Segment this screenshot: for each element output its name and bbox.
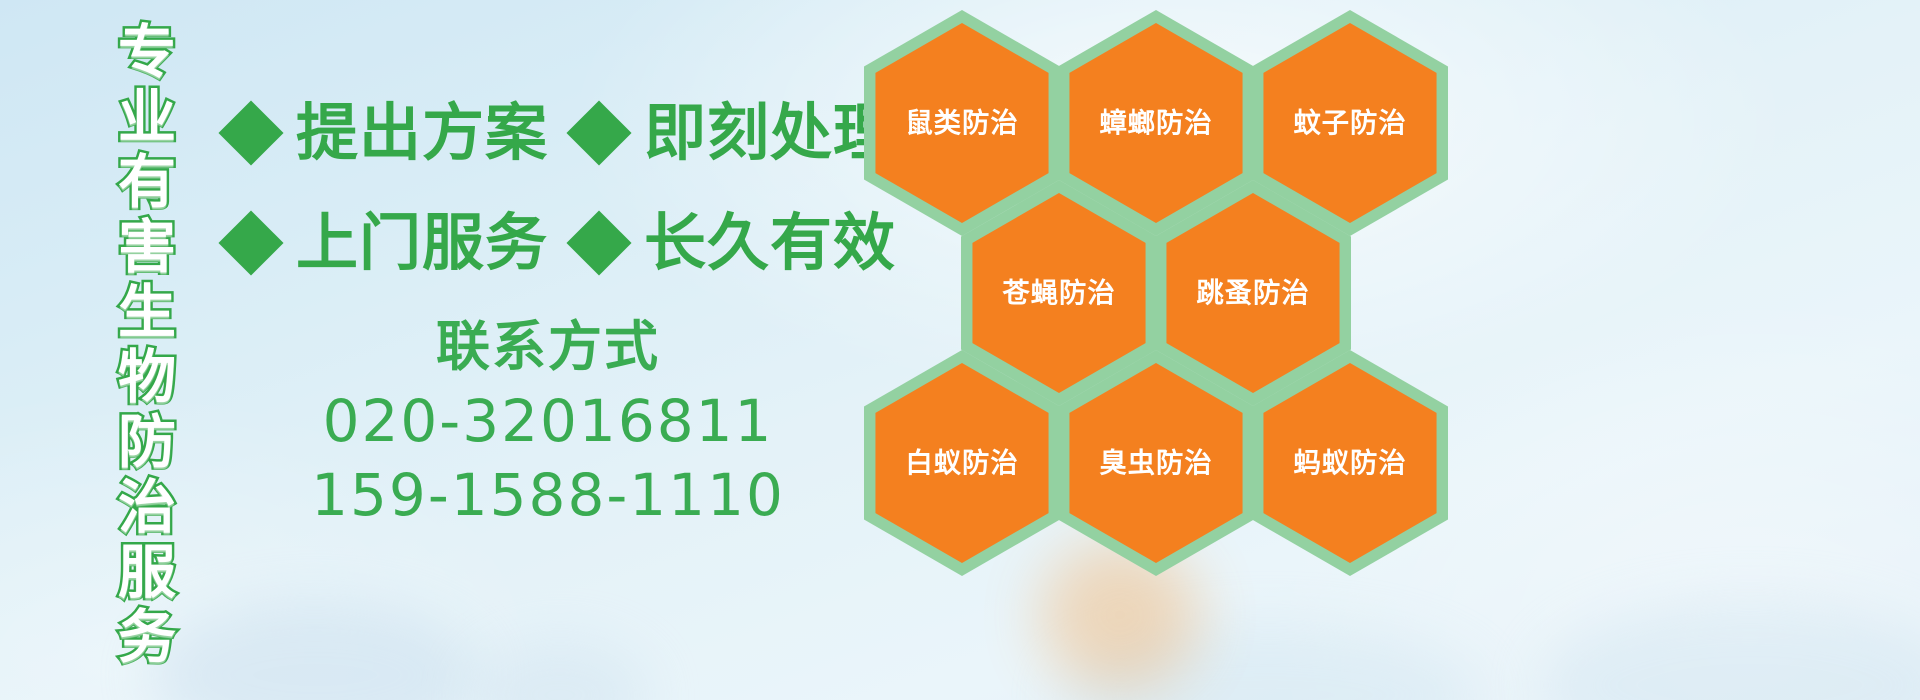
vertical-headline-char: 治 — [118, 475, 176, 540]
vertical-headline-char: 业 — [118, 85, 176, 150]
phone-number-landline[interactable]: 020-32016811 — [228, 384, 868, 458]
background-blob — [1540, 600, 1920, 700]
contact-block: 联系方式 020-32016811 159-1588-1110 — [228, 310, 868, 532]
service-hex-termite[interactable]: 白蚁防治 — [864, 350, 1060, 576]
feature-label: 提出方案 — [296, 102, 548, 164]
feature-item-immediate-handling: 即刻处理 — [576, 102, 896, 164]
feature-item-long-lasting: 长久有效 — [576, 212, 896, 274]
background-blob — [470, 640, 650, 700]
vertical-headline: 专 业 有 害 生 物 防 治 服 务 — [104, 20, 190, 680]
vertical-headline-char: 服 — [118, 540, 176, 605]
feature-row: 提出方案 即刻处理 — [228, 78, 868, 188]
hex-label: 苍蝇防治 — [1002, 278, 1115, 308]
phone-number-mobile[interactable]: 159-1588-1110 — [228, 458, 868, 532]
hex-label: 蚊子防治 — [1293, 108, 1406, 138]
service-hex-ant[interactable]: 蚂蚁防治 — [1252, 350, 1448, 576]
service-honeycomb: 鼠类防治 蟑螂防治 蚊子防治 苍蝇防治 跳蚤防治 — [856, 0, 1476, 580]
hex-label: 蟑螂防治 — [1099, 108, 1212, 138]
background-blob — [150, 600, 480, 700]
feature-list: 提出方案 即刻处理 上门服务 长久有效 — [228, 78, 868, 298]
contact-title: 联系方式 — [228, 310, 868, 384]
vertical-headline-char: 有 — [118, 150, 176, 215]
hex-label: 臭虫防治 — [1099, 448, 1212, 478]
vertical-headline-char: 生 — [118, 280, 176, 345]
vertical-headline-char: 害 — [118, 215, 176, 280]
service-hex-bedbug[interactable]: 臭虫防治 — [1058, 350, 1254, 576]
diamond-icon — [566, 210, 631, 275]
hex-label: 鼠类防治 — [905, 108, 1018, 138]
vertical-headline-char: 防 — [118, 410, 176, 475]
feature-label: 上门服务 — [296, 212, 548, 274]
hex-label: 白蚁防治 — [905, 448, 1018, 478]
diamond-icon — [218, 210, 283, 275]
vertical-headline-char: 专 — [118, 20, 176, 85]
feature-row: 上门服务 长久有效 — [228, 188, 868, 298]
vertical-headline-char: 务 — [118, 605, 176, 670]
promotional-banner: 专 业 有 害 生 物 防 治 服 务 提出方案 即刻处理 上门服务 — [0, 0, 1920, 700]
feature-item-propose-plan: 提出方案 — [228, 102, 548, 164]
hex-label: 蚂蚁防治 — [1293, 448, 1406, 478]
diamond-icon — [566, 100, 631, 165]
vertical-headline-char: 物 — [118, 345, 176, 410]
diamond-icon — [218, 100, 283, 165]
hex-label: 跳蚤防治 — [1196, 278, 1309, 308]
feature-item-onsite-service: 上门服务 — [228, 212, 548, 274]
